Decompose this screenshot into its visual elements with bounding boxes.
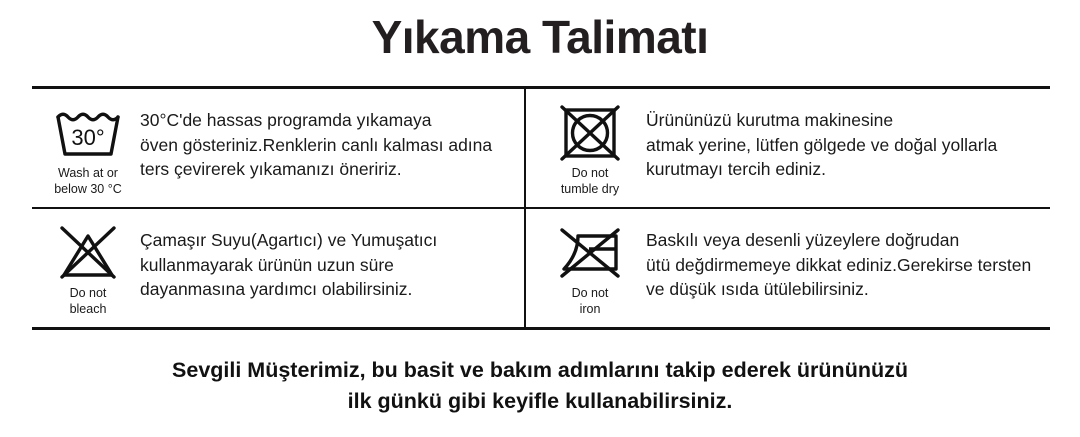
care-cell-tumble-dry: Do not tumble dry Ürününüzü kurutma maki… — [525, 88, 1050, 209]
table-row: 30° Wash at or below 30 °C 30°C'de hassa… — [32, 88, 1050, 209]
symbol-caption-wash: Wash at or below 30 °C — [54, 166, 122, 197]
care-text-wash: 30°C'de hassas programda yıkamaya öven g… — [140, 108, 524, 183]
symbol-caption-bleach: Do not bleach — [70, 286, 107, 317]
do-not-tumble-dry-icon — [554, 104, 626, 162]
care-cell-iron: Do not iron Baskılı veya desenli yüzeyle… — [525, 208, 1050, 329]
page-title: Yıkama Talimatı — [0, 12, 1080, 63]
symbol-block-bleach: Do not bleach — [36, 218, 140, 317]
symbol-block-iron: Do not iron — [538, 218, 642, 317]
care-cell-wash: 30° Wash at or below 30 °C 30°C'de hassa… — [32, 88, 525, 209]
symbol-block-wash: 30° Wash at or below 30 °C — [36, 98, 140, 197]
care-instructions-page: Yıkama Talimatı 30° Wash at or below 30 … — [0, 0, 1080, 437]
symbol-block-tumble-dry: Do not tumble dry — [538, 98, 642, 197]
wash-temperature-label: 30° — [71, 125, 104, 150]
care-cell-bleach: Do not bleach Çamaşır Suyu(Agartıcı) ve … — [32, 208, 525, 329]
care-symbol-table: 30° Wash at or below 30 °C 30°C'de hassa… — [32, 86, 1050, 330]
care-text-bleach: Çamaşır Suyu(Agartıcı) ve Yumuşatıcı kul… — [140, 228, 524, 303]
symbol-caption-tumble-dry: Do not tumble dry — [561, 166, 619, 197]
symbol-caption-iron: Do not iron — [572, 286, 609, 317]
do-not-bleach-icon — [52, 224, 124, 282]
care-text-tumble-dry: Ürününüzü kurutma makinesine atmak yerin… — [642, 108, 1050, 183]
do-not-iron-icon — [554, 224, 626, 282]
table-row: Do not bleach Çamaşır Suyu(Agartıcı) ve … — [32, 208, 1050, 329]
wash-30-icon: 30° — [52, 104, 124, 162]
care-text-iron: Baskılı veya desenli yüzeylere doğrudan … — [642, 228, 1050, 303]
footer-message: Sevgili Müşterimiz, bu basit ve bakım ad… — [0, 355, 1080, 416]
